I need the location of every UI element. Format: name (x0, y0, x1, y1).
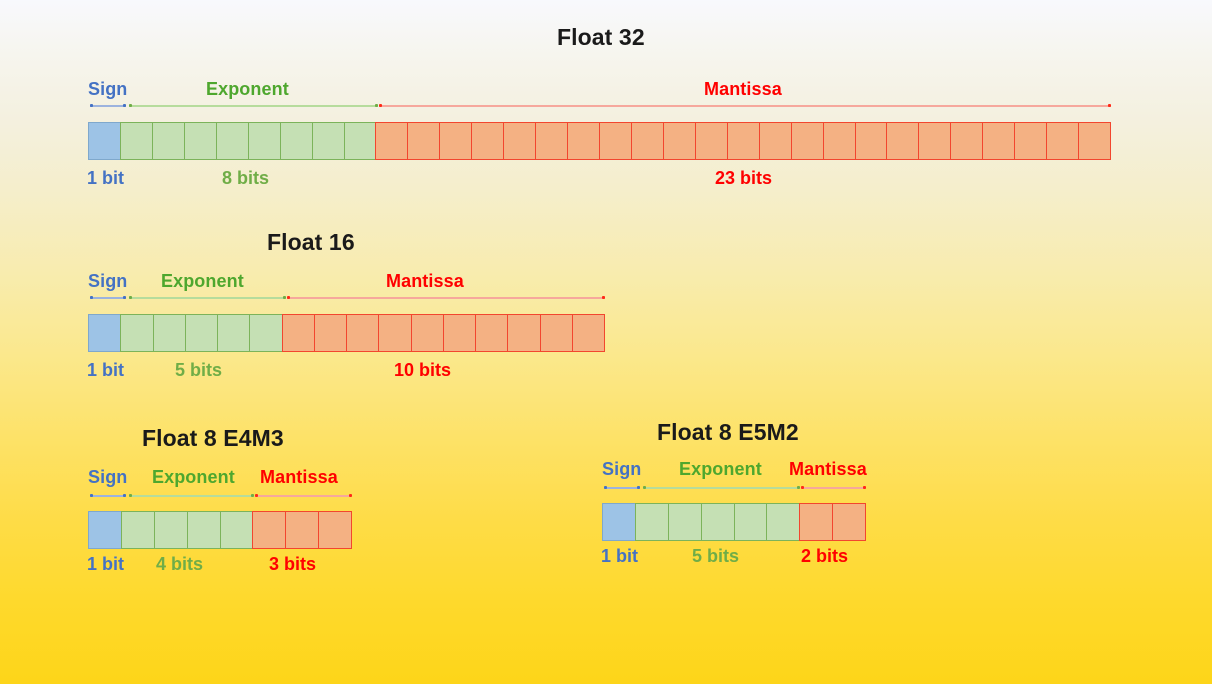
float8-e5m2-exponent-span-rule (643, 486, 800, 489)
float16-mantissa-span-rule (287, 296, 605, 299)
bit-cell-mantissa (318, 511, 352, 549)
float8-e4m3-mantissa-bits-label: 3 bits (269, 554, 316, 575)
bit-cell-exponent (312, 122, 345, 160)
float8-e5m2-sign-label: Sign (602, 459, 641, 480)
bit-cell-exponent (734, 503, 768, 541)
bit-cell-exponent (185, 314, 218, 352)
float8-e4m3-title: Float 8 E4M3 (142, 425, 284, 452)
bit-cell-mantissa (823, 122, 856, 160)
float8-e5m2-sign-bits-label: 1 bit (601, 546, 638, 567)
float8-e4m3-exponent-bits-label: 4 bits (156, 554, 203, 575)
float16-sign-bits-label: 1 bit (87, 360, 124, 381)
bit-cell-mantissa (282, 314, 315, 352)
bit-cell-mantissa (727, 122, 760, 160)
bit-cell-exponent (635, 503, 669, 541)
bit-cell-exponent (344, 122, 377, 160)
float8-e4m3-exponent-label: Exponent (152, 467, 235, 488)
bit-cell-exponent (248, 122, 281, 160)
bit-cell-sign (88, 511, 122, 549)
bit-cell-exponent (153, 314, 186, 352)
bit-cell-mantissa (950, 122, 983, 160)
bit-cell-mantissa (407, 122, 440, 160)
float8-e4m3-sign-bits-label: 1 bit (87, 554, 124, 575)
float8-e5m2-exponent-label: Exponent (679, 459, 762, 480)
float32-exponent-bits-label: 8 bits (222, 168, 269, 189)
bit-cell-mantissa (540, 314, 573, 352)
float32-sign-span-rule (90, 104, 126, 107)
bit-cell-mantissa (572, 314, 605, 352)
bit-cell-mantissa (1078, 122, 1111, 160)
float32-sign-bits-label: 1 bit (87, 168, 124, 189)
bit-cell-exponent (668, 503, 702, 541)
float16-sign-span-rule (90, 296, 126, 299)
float8-e4m3-sign-label: Sign (88, 467, 127, 488)
bit-cell-sign (88, 314, 121, 352)
bit-cell-mantissa (799, 503, 833, 541)
bit-cell-mantissa (599, 122, 632, 160)
bit-cell-mantissa (1014, 122, 1047, 160)
float8-e5m2-mantissa-span-rule (801, 486, 866, 489)
bit-cell-mantissa (855, 122, 888, 160)
bit-cell-mantissa (471, 122, 504, 160)
bit-cell-mantissa (886, 122, 919, 160)
float8-e5m2-title: Float 8 E5M2 (657, 419, 799, 446)
bit-cell-mantissa (507, 314, 540, 352)
float8-e5m2-mantissa-label: Mantissa (789, 459, 867, 480)
float32-bit-strip (88, 122, 1111, 160)
float16-bit-strip (88, 314, 605, 352)
float8-e4m3-mantissa-label: Mantissa (260, 467, 338, 488)
float8-e5m2-exponent-bits-label: 5 bits (692, 546, 739, 567)
bit-cell-mantissa (378, 314, 411, 352)
float8-e4m3-mantissa-span-rule (255, 494, 352, 497)
bit-cell-exponent (701, 503, 735, 541)
bit-cell-exponent (220, 511, 254, 549)
bit-cell-mantissa (285, 511, 319, 549)
float8-e5m2-bit-strip (602, 503, 866, 541)
bit-cell-exponent (120, 122, 153, 160)
bit-cell-mantissa (918, 122, 951, 160)
bit-cell-mantissa (567, 122, 600, 160)
bit-cell-mantissa (439, 122, 472, 160)
bit-cell-mantissa (982, 122, 1015, 160)
bit-cell-exponent (249, 314, 282, 352)
bit-cell-mantissa (535, 122, 568, 160)
float32-sign-label: Sign (88, 79, 127, 100)
bit-cell-exponent (120, 314, 153, 352)
float16-title: Float 16 (267, 229, 355, 256)
bit-cell-exponent (184, 122, 217, 160)
bit-cell-mantissa (631, 122, 664, 160)
float32-mantissa-span-rule (379, 104, 1111, 107)
bit-cell-exponent (766, 503, 800, 541)
bit-cell-mantissa (832, 503, 866, 541)
float16-exponent-bits-label: 5 bits (175, 360, 222, 381)
float16-sign-label: Sign (88, 271, 127, 292)
float8-e5m2-sign-span-rule (604, 486, 640, 489)
float32-exponent-span-rule (129, 104, 378, 107)
bit-cell-exponent (216, 122, 249, 160)
bit-cell-mantissa (791, 122, 824, 160)
bit-cell-exponent (121, 511, 155, 549)
float16-mantissa-label: Mantissa (386, 271, 464, 292)
float8-e4m3-exponent-span-rule (129, 494, 254, 497)
bit-cell-mantissa (475, 314, 508, 352)
float32-mantissa-bits-label: 23 bits (715, 168, 772, 189)
bit-cell-mantissa (346, 314, 379, 352)
bit-cell-sign (88, 122, 121, 160)
float8-e4m3-sign-span-rule (90, 494, 126, 497)
bit-cell-sign (602, 503, 636, 541)
float16-exponent-label: Exponent (161, 271, 244, 292)
bit-cell-mantissa (375, 122, 408, 160)
bit-cell-mantissa (503, 122, 536, 160)
float16-exponent-span-rule (129, 296, 286, 299)
bit-cell-mantissa (314, 314, 347, 352)
bit-cell-exponent (152, 122, 185, 160)
float32-exponent-label: Exponent (206, 79, 289, 100)
bit-cell-exponent (187, 511, 221, 549)
bit-cell-mantissa (695, 122, 728, 160)
bit-cell-exponent (154, 511, 188, 549)
float16-mantissa-bits-label: 10 bits (394, 360, 451, 381)
bit-cell-mantissa (443, 314, 476, 352)
float8-e4m3-bit-strip (88, 511, 352, 549)
bit-cell-mantissa (759, 122, 792, 160)
bit-cell-mantissa (663, 122, 696, 160)
float32-title: Float 32 (557, 24, 645, 51)
bit-cell-mantissa (411, 314, 444, 352)
bit-cell-mantissa (1046, 122, 1079, 160)
bit-cell-exponent (280, 122, 313, 160)
bit-cell-exponent (217, 314, 250, 352)
slide-canvas: Float 32 Sign Exponent Mantissa 1 bit 8 … (0, 0, 1212, 684)
float32-mantissa-label: Mantissa (704, 79, 782, 100)
bit-cell-mantissa (252, 511, 286, 549)
float8-e5m2-mantissa-bits-label: 2 bits (801, 546, 848, 567)
